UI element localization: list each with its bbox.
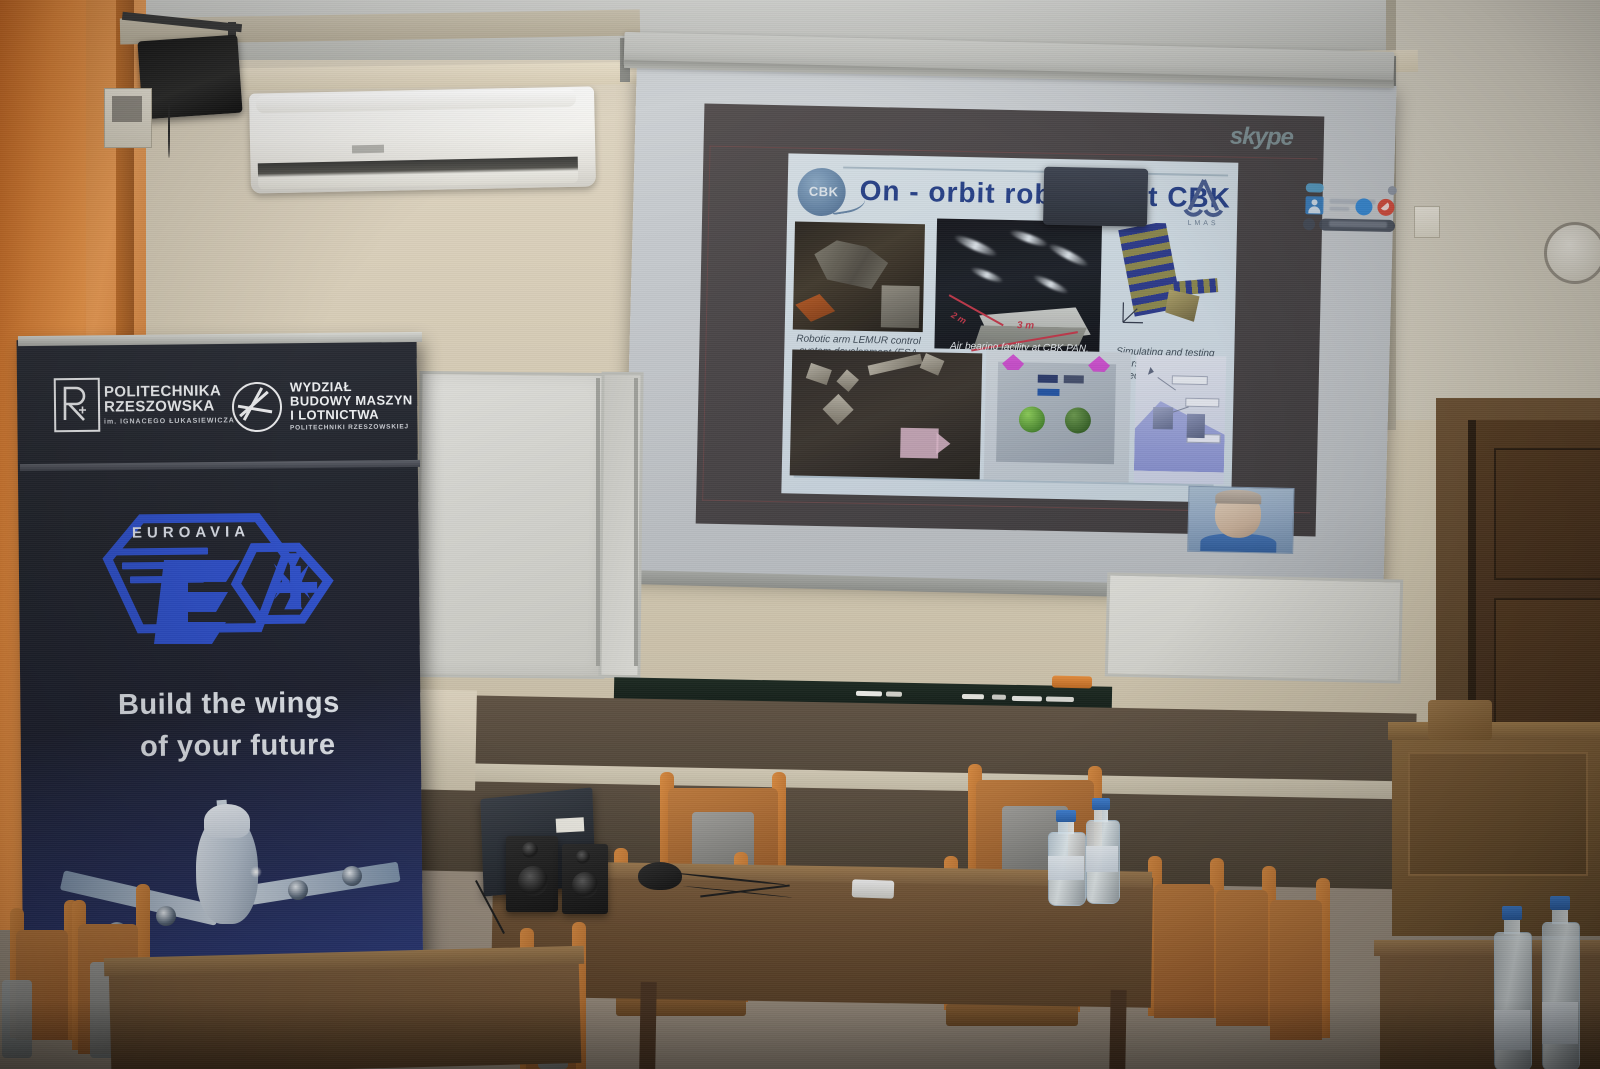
computer-mouse[interactable] bbox=[638, 862, 682, 890]
politechnika-name-line2: RZESZOWSKA bbox=[104, 398, 221, 414]
laptop-sticker bbox=[556, 817, 585, 832]
airplane-engine-2 bbox=[156, 906, 176, 926]
presentation-remote[interactable] bbox=[852, 879, 895, 898]
whiteboard-hinge-right bbox=[634, 378, 638, 666]
whiteboard-right bbox=[1105, 572, 1403, 683]
whiteboard-left bbox=[416, 371, 607, 679]
faculty-name: WYDZIAŁ BUDOWY MASZYN I LOTNICTWA bbox=[290, 379, 413, 422]
banner-tagline-line2: of your future bbox=[140, 729, 336, 764]
speaker-left-cone bbox=[518, 866, 548, 896]
podium-top bbox=[1388, 722, 1600, 740]
air-conditioner-brand-badge bbox=[352, 145, 384, 154]
marker-3[interactable] bbox=[962, 694, 984, 699]
marker-cap-orange[interactable] bbox=[1052, 676, 1092, 689]
wall-clock bbox=[1544, 222, 1600, 284]
participant-hair bbox=[1215, 489, 1261, 504]
sim-robot-model bbox=[1153, 407, 1173, 429]
skype-call-timer bbox=[1329, 207, 1349, 211]
avatar-head-icon bbox=[1311, 199, 1317, 205]
platform-component-c bbox=[1037, 389, 1059, 396]
politechnika-subtitle: im. IGNACEGO ŁUKASIEWICZA bbox=[104, 417, 235, 425]
projector-cable bbox=[168, 100, 170, 158]
speaker-right-cone bbox=[572, 872, 598, 898]
banner-tagline-line1: Build the wings bbox=[118, 687, 340, 722]
platform-component-a bbox=[1038, 375, 1058, 383]
airplane-landing-light bbox=[250, 866, 262, 878]
marker-5[interactable] bbox=[1012, 696, 1042, 702]
slide-graphic-satellite bbox=[1112, 222, 1227, 356]
platform-component-b bbox=[1064, 375, 1084, 383]
speaker-right-tweeter bbox=[576, 850, 590, 864]
vision-arrow-block bbox=[900, 428, 939, 459]
webcam-thumbnail[interactable] bbox=[1187, 486, 1294, 554]
whiteboard-hinge-left bbox=[596, 378, 600, 666]
presentation-slide: CBK On - orbit robotics at CBK LMAS bbox=[781, 153, 1238, 502]
dimension-label-3m: 3 m bbox=[1017, 320, 1034, 331]
conference-table-leg-right bbox=[1109, 990, 1126, 1069]
airplane-engine-4 bbox=[342, 866, 362, 886]
projected-image: skype CBK On - orbit robotics at CBK LMA… bbox=[696, 104, 1325, 537]
faculty-name-line3: I LOTNICTWA bbox=[290, 407, 413, 422]
faculty-logo-icon bbox=[232, 382, 283, 433]
door-edge bbox=[1468, 420, 1476, 748]
wall-panel-beige-left bbox=[415, 689, 477, 790]
politechnika-name: POLITECHNIKA RZESZOWSKA bbox=[104, 383, 222, 414]
skype-status-text bbox=[1329, 221, 1387, 228]
classroom-photo: skype CBK On - orbit robotics at CBK LMA… bbox=[0, 0, 1600, 1069]
podium-chair[interactable] bbox=[1428, 700, 1492, 740]
projector-body bbox=[137, 35, 242, 120]
skype-watermark: skype bbox=[1230, 123, 1321, 151]
marker-6[interactable] bbox=[1046, 697, 1074, 703]
coordinate-axes-icon bbox=[1117, 296, 1148, 327]
skype-logo-icon bbox=[1306, 183, 1324, 192]
marker-2[interactable] bbox=[886, 691, 902, 696]
door-panel-lower bbox=[1494, 598, 1600, 742]
marker-1[interactable] bbox=[856, 691, 882, 696]
politechnika-monogram-icon bbox=[60, 384, 90, 422]
vision-arrow-tip bbox=[936, 432, 950, 454]
euroavia-e-letter bbox=[148, 552, 244, 648]
faculty-subtitle: POLITECHNIKI RZESZOWSKIEJ bbox=[290, 423, 409, 431]
sim-label-gripper bbox=[1172, 375, 1208, 385]
sim-label-robotic-arm bbox=[1185, 398, 1219, 408]
avatar-body-icon bbox=[1308, 206, 1320, 213]
slide-photo-vision-system bbox=[790, 349, 983, 479]
airplane-nose bbox=[204, 804, 250, 838]
wall-junction-inner bbox=[112, 96, 142, 122]
conference-table-leg-left bbox=[639, 982, 657, 1069]
satellite-body bbox=[1165, 289, 1200, 322]
light-switch[interactable] bbox=[1414, 206, 1440, 238]
lmas-logo-icon bbox=[1177, 175, 1230, 220]
sim-target-model bbox=[1187, 414, 1205, 438]
podium-front-panel bbox=[1408, 752, 1588, 876]
marker-4[interactable] bbox=[992, 694, 1006, 699]
euroavia-wordmark: EUROAVIA bbox=[132, 523, 250, 541]
door-panel-upper bbox=[1494, 448, 1600, 580]
speaker-left-tweeter bbox=[522, 842, 538, 858]
robotic-arm-base-box bbox=[881, 285, 920, 328]
airplane-engine-3 bbox=[288, 880, 308, 900]
skype-call-window[interactable] bbox=[1043, 167, 1148, 227]
